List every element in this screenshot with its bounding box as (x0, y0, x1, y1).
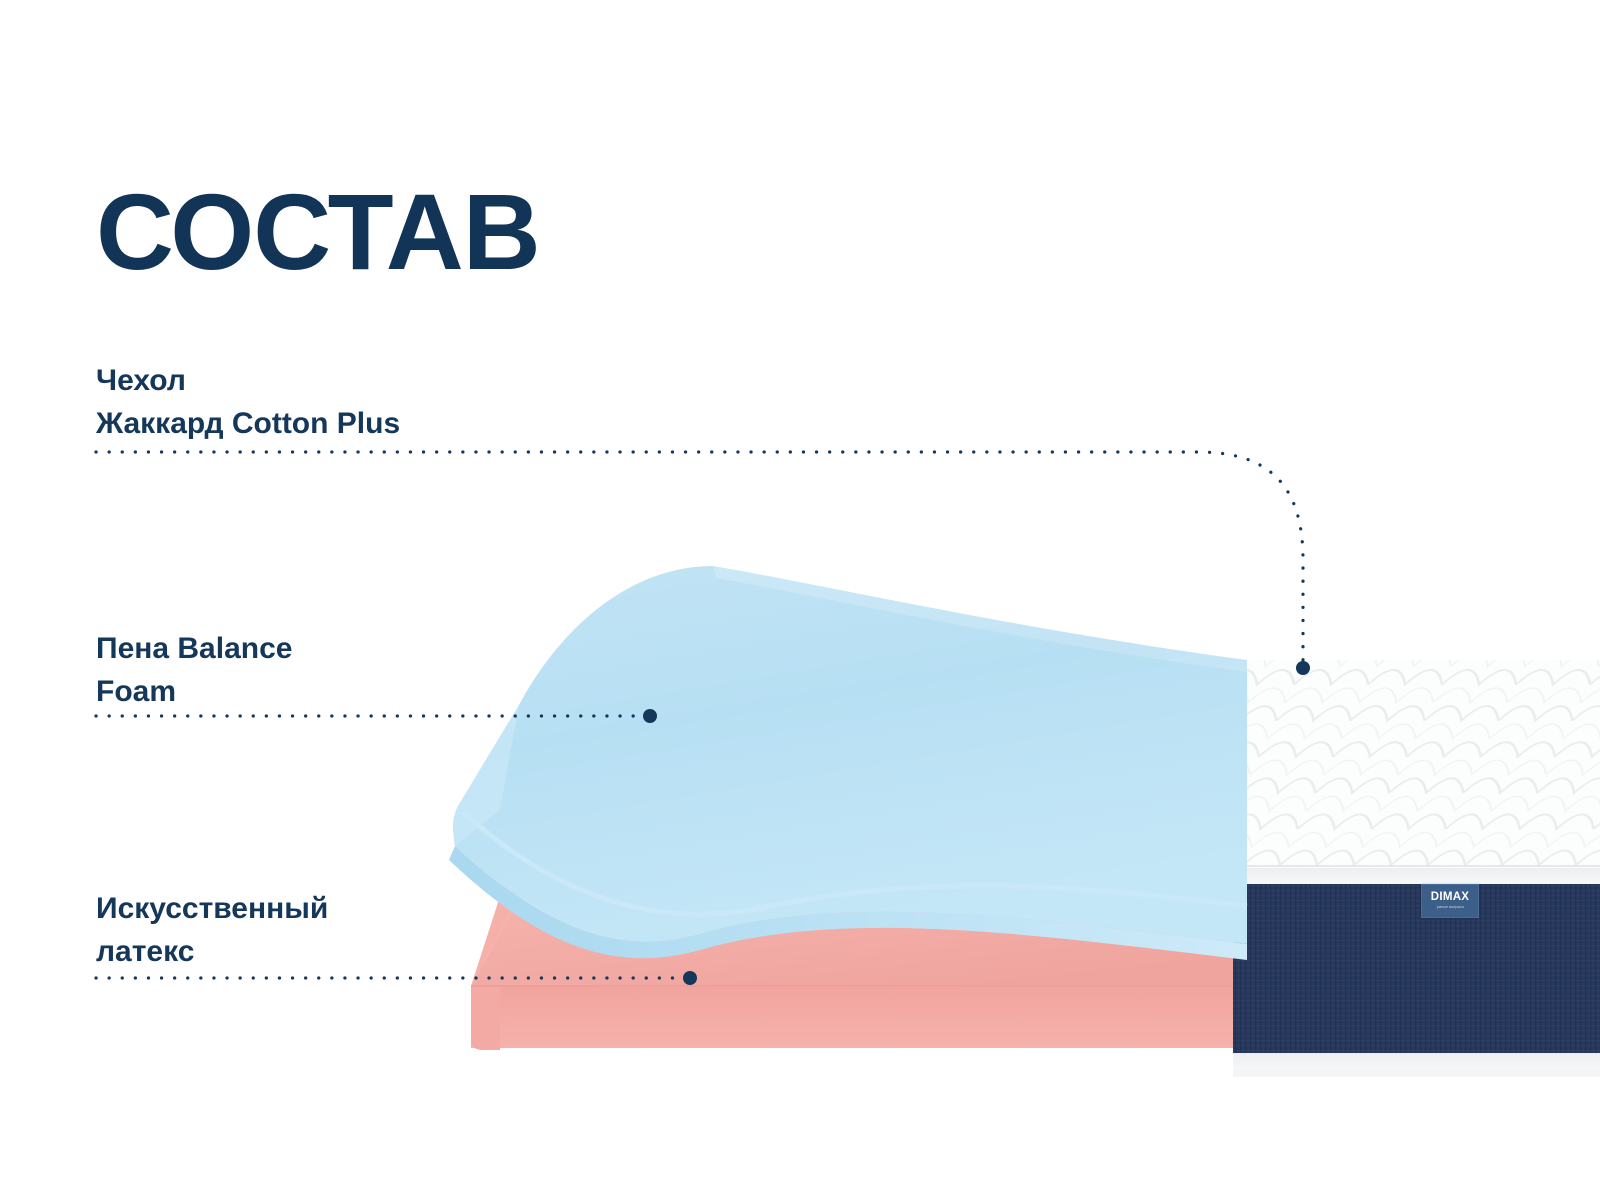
balance-foam-layer (449, 566, 1247, 960)
callout-cover-line1: Чехол (96, 360, 400, 403)
page-title: СОСТАВ (96, 178, 540, 286)
callout-foam-line2: Foam (96, 671, 292, 714)
mattress-base-strip (1233, 1069, 1600, 1077)
callout-foam-line1: Пена Balance (96, 628, 292, 671)
leader-endpoint-latex (683, 971, 697, 985)
cover-top-highlight (1244, 660, 1600, 872)
brand-name: DIMAX (1431, 892, 1470, 904)
brand-tagline: умные матрасы (1436, 906, 1463, 909)
callout-latex: Искусственный латекс (96, 888, 328, 973)
callout-latex-line1: Искусственный (96, 888, 328, 931)
callout-latex-line2: латекс (96, 931, 328, 974)
leader-endpoint-foam (643, 709, 657, 723)
cover-top-piping (1233, 868, 1600, 884)
composition-infographic: СОСТАВ Чехол Жаккард Cotton Plus Пена Ba… (0, 0, 1600, 1200)
latex-left-edge (471, 986, 500, 1050)
mattress-cover (1233, 660, 1600, 884)
leader-endpoint-cover (1296, 661, 1310, 675)
side-panel-bottom-piping (1233, 1053, 1600, 1071)
callout-cover-line2: Жаккард Cotton Plus (96, 403, 400, 446)
callout-foam: Пена Balance Foam (96, 628, 292, 713)
brand-label-dimax: DIMAX умные матрасы (1421, 884, 1479, 918)
latex-front-face (471, 986, 1233, 1048)
callout-cover: Чехол Жаккард Cotton Plus (96, 360, 400, 445)
mattress-side-panel (1233, 884, 1600, 1077)
side-panel-shade (1233, 884, 1600, 1056)
